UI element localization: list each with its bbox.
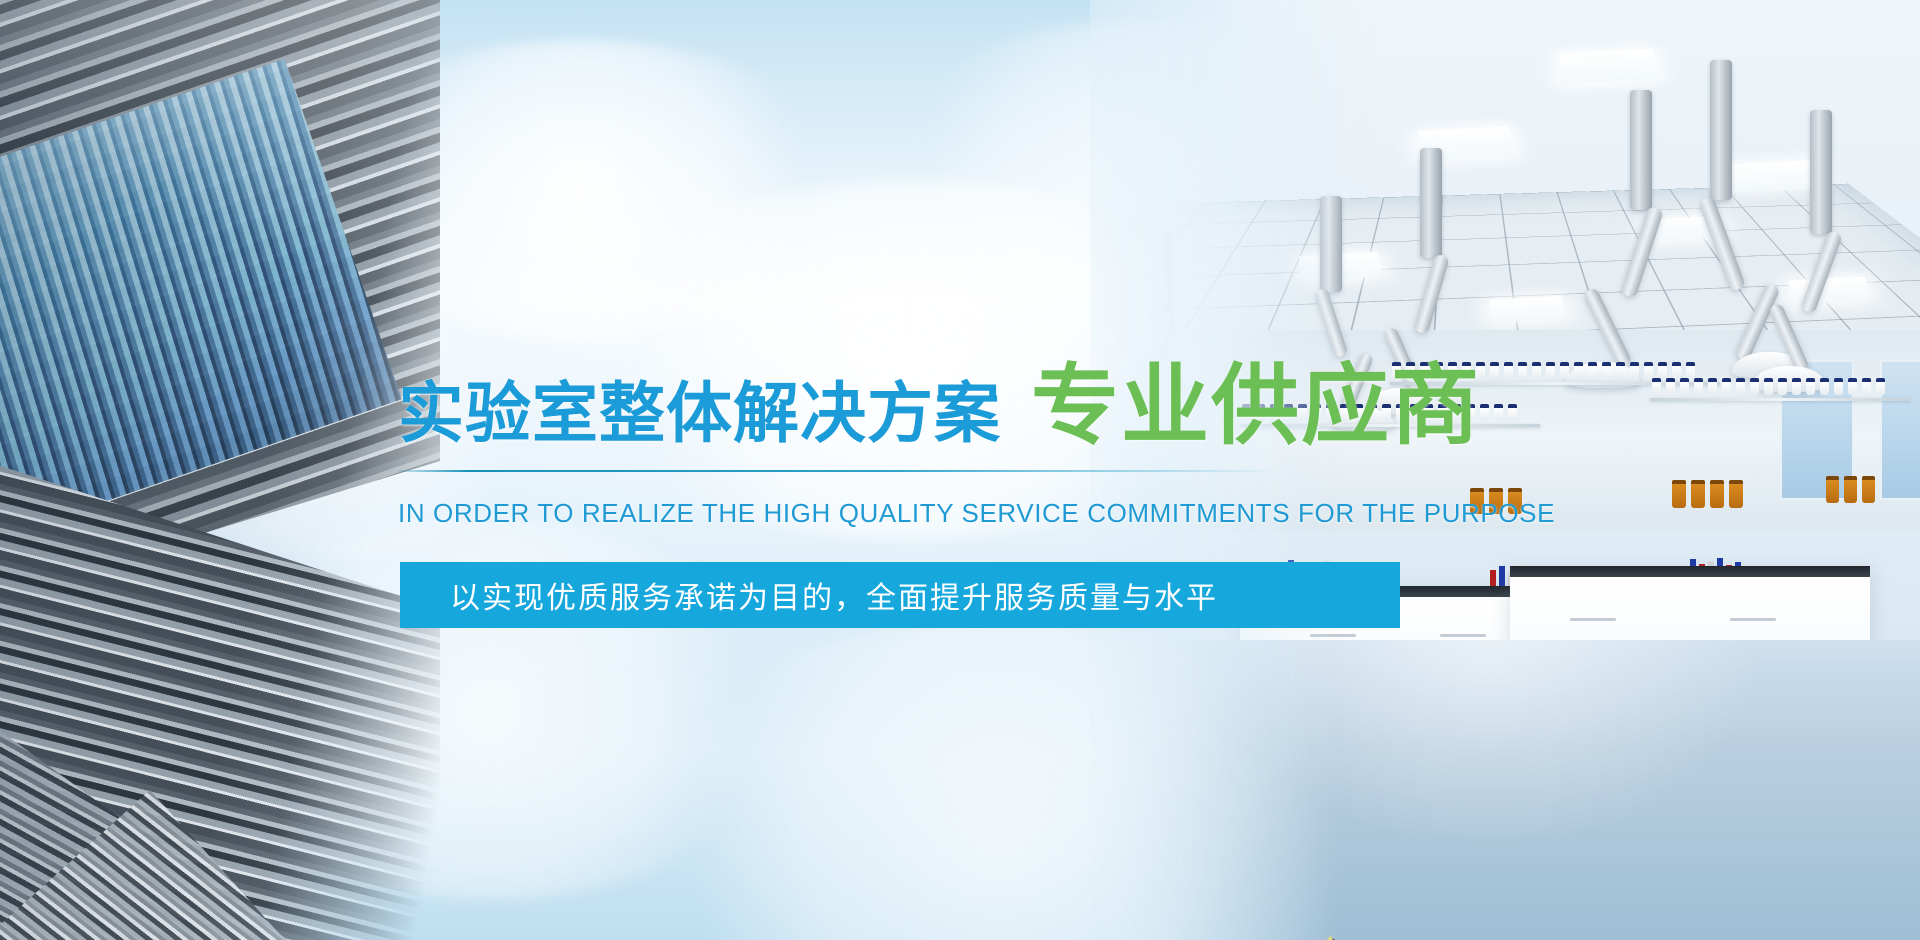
banner-stage: 实验室整体解决方案 专业供应商 IN ORDER TO REALIZE THE … bbox=[0, 0, 1920, 940]
banner-content: 实验室整体解决方案 专业供应商 IN ORDER TO REALIZE THE … bbox=[0, 0, 1920, 940]
headline-accent: 专业供应商 bbox=[1031, 362, 1481, 450]
tagline-bar: 以实现优质服务承诺为目的，全面提升服务质量与水平 bbox=[400, 562, 1400, 628]
tagline-text: 以实现优质服务承诺为目的，全面提升服务质量与水平 bbox=[400, 573, 1218, 617]
headline: 实验室整体解决方案 专业供应商 bbox=[398, 360, 1481, 456]
headline-divider bbox=[398, 470, 1278, 472]
subtitle-english: IN ORDER TO REALIZE THE HIGH QUALITY SER… bbox=[398, 498, 1555, 529]
headline-primary: 实验室整体解决方案 bbox=[398, 360, 1001, 456]
